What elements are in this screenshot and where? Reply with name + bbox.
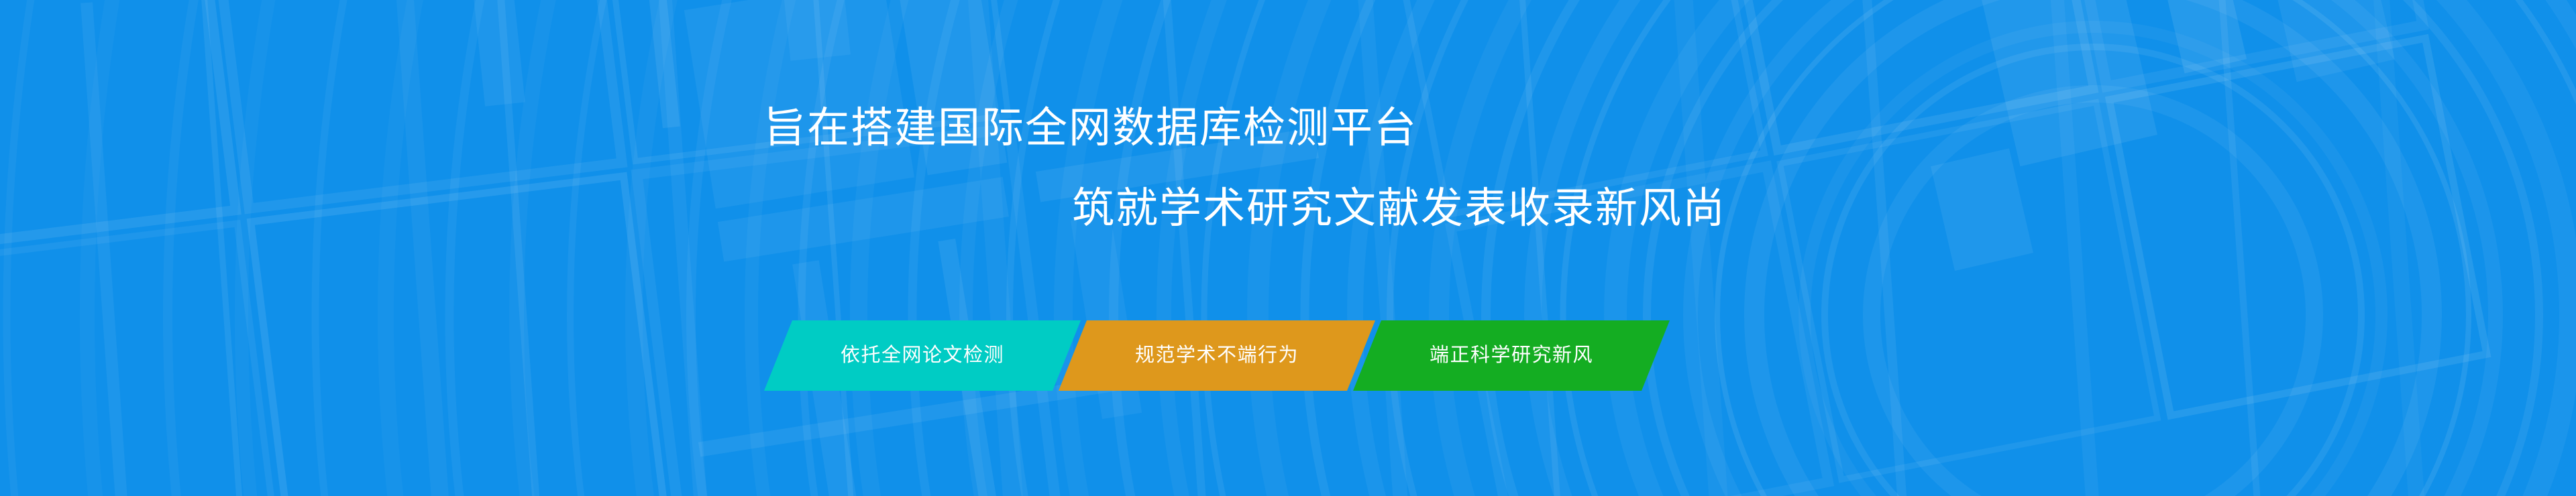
feature-badge-misconduct[interactable]: 规范学术不端行为 (1059, 320, 1375, 391)
rotated-grid-left (0, 0, 1055, 496)
headline-line-2: 筑就学术研究文献发表收录新风尚 (1072, 188, 2576, 230)
rotated-grid-mid (631, 0, 1366, 496)
headline-line-1: 旨在搭建国际全网数据库检测平台 (763, 107, 2576, 149)
background-decoration-art (0, 0, 2576, 496)
feature-badge-strip: 依托全网论文检测 规范学术不端行为 端正科学研究新风 (778, 320, 1656, 391)
promo-banner: 旨在搭建国际全网数据库检测平台 筑就学术研究文献发表收录新风尚 依托全网论文检测… (0, 0, 2576, 496)
feature-badge-misconduct-label: 规范学术不端行为 (1132, 346, 1301, 365)
rotated-grid-right (1387, 0, 2487, 496)
headline-block: 旨在搭建国际全网数据库检测平台 筑就学术研究文献发表收录新风尚 (0, 107, 2576, 230)
feature-badge-detection-label: 依托全网论文检测 (838, 346, 1007, 365)
feature-badge-detection[interactable]: 依托全网论文检测 (764, 320, 1081, 391)
arc-rings (7, 0, 2576, 496)
feature-badge-research-ethos-label: 端正科学研究新风 (1427, 346, 1596, 365)
feature-badge-research-ethos[interactable]: 端正科学研究新风 (1353, 320, 1670, 391)
light-streaks (80, 0, 2425, 496)
